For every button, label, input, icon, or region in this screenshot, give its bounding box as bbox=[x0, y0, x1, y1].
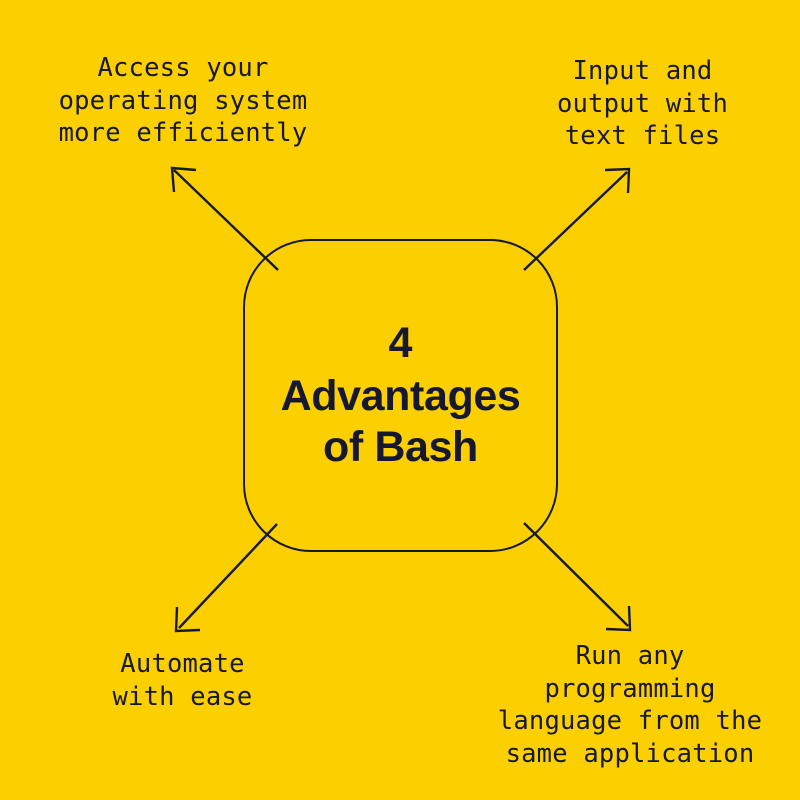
arrow-top-right bbox=[524, 169, 629, 270]
center-count: 4 bbox=[389, 318, 413, 369]
center-title-line-1: Advantages bbox=[281, 371, 521, 422]
center-node: 4 Advantages of Bash bbox=[243, 239, 558, 552]
spoke-label-input-output: Input and output with text files bbox=[500, 55, 785, 153]
spoke-label-run-languages: Run any programming language from the sa… bbox=[470, 640, 790, 771]
spoke-label-access-os: Access your operating system more effici… bbox=[18, 52, 348, 150]
center-title-line-2: of Bash bbox=[323, 422, 478, 473]
arrow-bottom-right bbox=[524, 523, 630, 630]
arrow-bottom-left bbox=[176, 524, 277, 631]
infographic-canvas: 4 Advantages of Bash Access your operati… bbox=[0, 0, 800, 800]
arrow-top-left bbox=[172, 168, 278, 270]
spoke-label-automate: Automate with ease bbox=[20, 648, 345, 713]
